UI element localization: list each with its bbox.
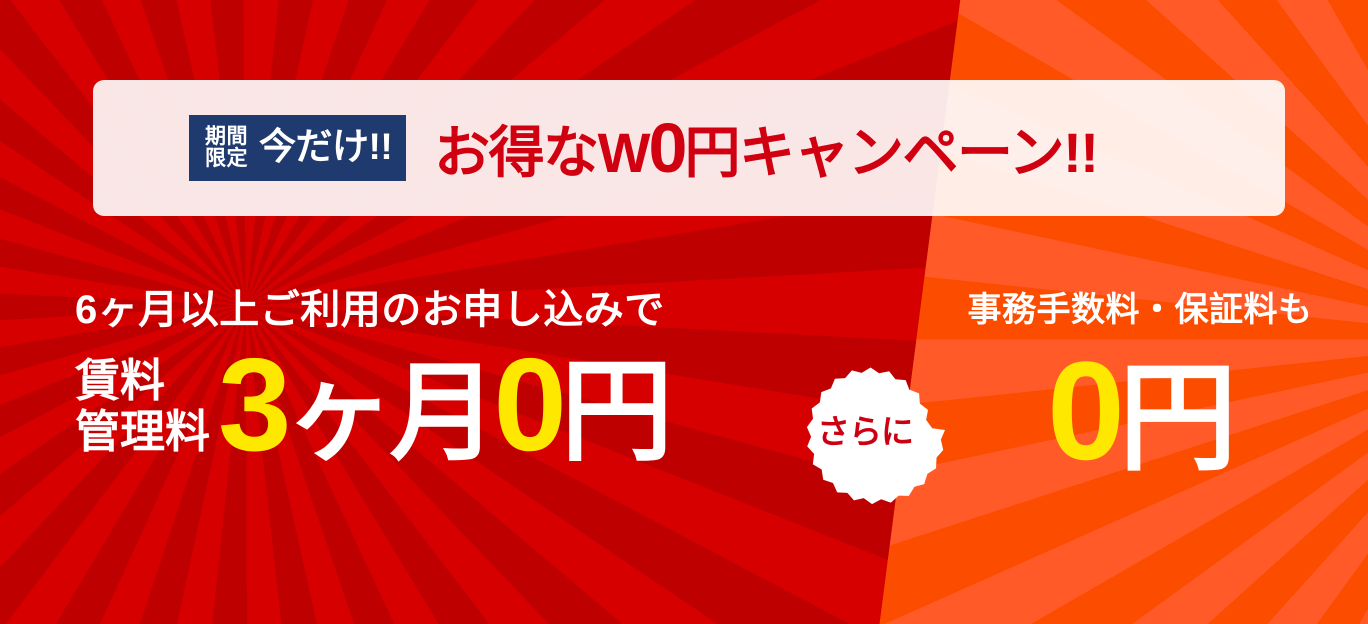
fee-label-rent: 賃料: [75, 356, 210, 406]
left-offer-amount-row: 賃料 管理料 3ヶ月0円: [75, 344, 775, 465]
headline-zero: 0: [649, 109, 685, 187]
starburst-label: さらに: [817, 415, 913, 448]
fee-type-labels: 賃料 管理料: [75, 352, 210, 457]
left-offer-block: 6ヶ月以上ご利用のお申し込みで 賃料 管理料 3ヶ月0円: [75, 288, 775, 465]
left-offer-amount: 3ヶ月0円: [218, 344, 669, 465]
promotional-banner: 期間 限定 今だけ!! お得なW0円キャンペーン!! 6ヶ月以上ご利用のお申し込…: [0, 0, 1368, 624]
page-title: お得なW0円キャンペーン!!: [434, 113, 1097, 183]
right-amount-zero: 0: [1047, 332, 1119, 489]
left-amount-zero: 0: [493, 344, 560, 465]
left-amount-months-unit: ヶ月: [285, 363, 493, 462]
right-offer-block: 事務手数料・保証料も 0円: [940, 292, 1340, 476]
left-amount-yen: 円: [561, 360, 669, 463]
right-amount-yen: 円: [1119, 353, 1233, 485]
headline-w-mark: W: [598, 121, 649, 184]
badge-line-1: 期間: [205, 126, 248, 148]
right-offer-amount: 0円: [940, 347, 1340, 476]
left-amount-months: 3: [218, 344, 285, 465]
left-offer-lead: 6ヶ月以上ご利用のお申し込みで: [75, 288, 775, 332]
badge-emphasis-label: 今だけ!!: [259, 128, 392, 168]
badge-line-2: 限定: [205, 148, 248, 170]
headline-prefix: お得な: [434, 121, 598, 184]
headline-bar: 期間 限定 今だけ!! お得なW0円キャンペーン!!: [93, 80, 1285, 216]
right-offer-lead: 事務手数料・保証料も: [940, 292, 1340, 329]
headline-suffix: 円キャンペーン!!: [684, 121, 1097, 184]
fee-label-management: 管理料: [75, 407, 210, 457]
limited-period-label: 期間 限定: [205, 126, 248, 170]
limited-time-badge: 期間 限定 今だけ!!: [189, 115, 406, 181]
